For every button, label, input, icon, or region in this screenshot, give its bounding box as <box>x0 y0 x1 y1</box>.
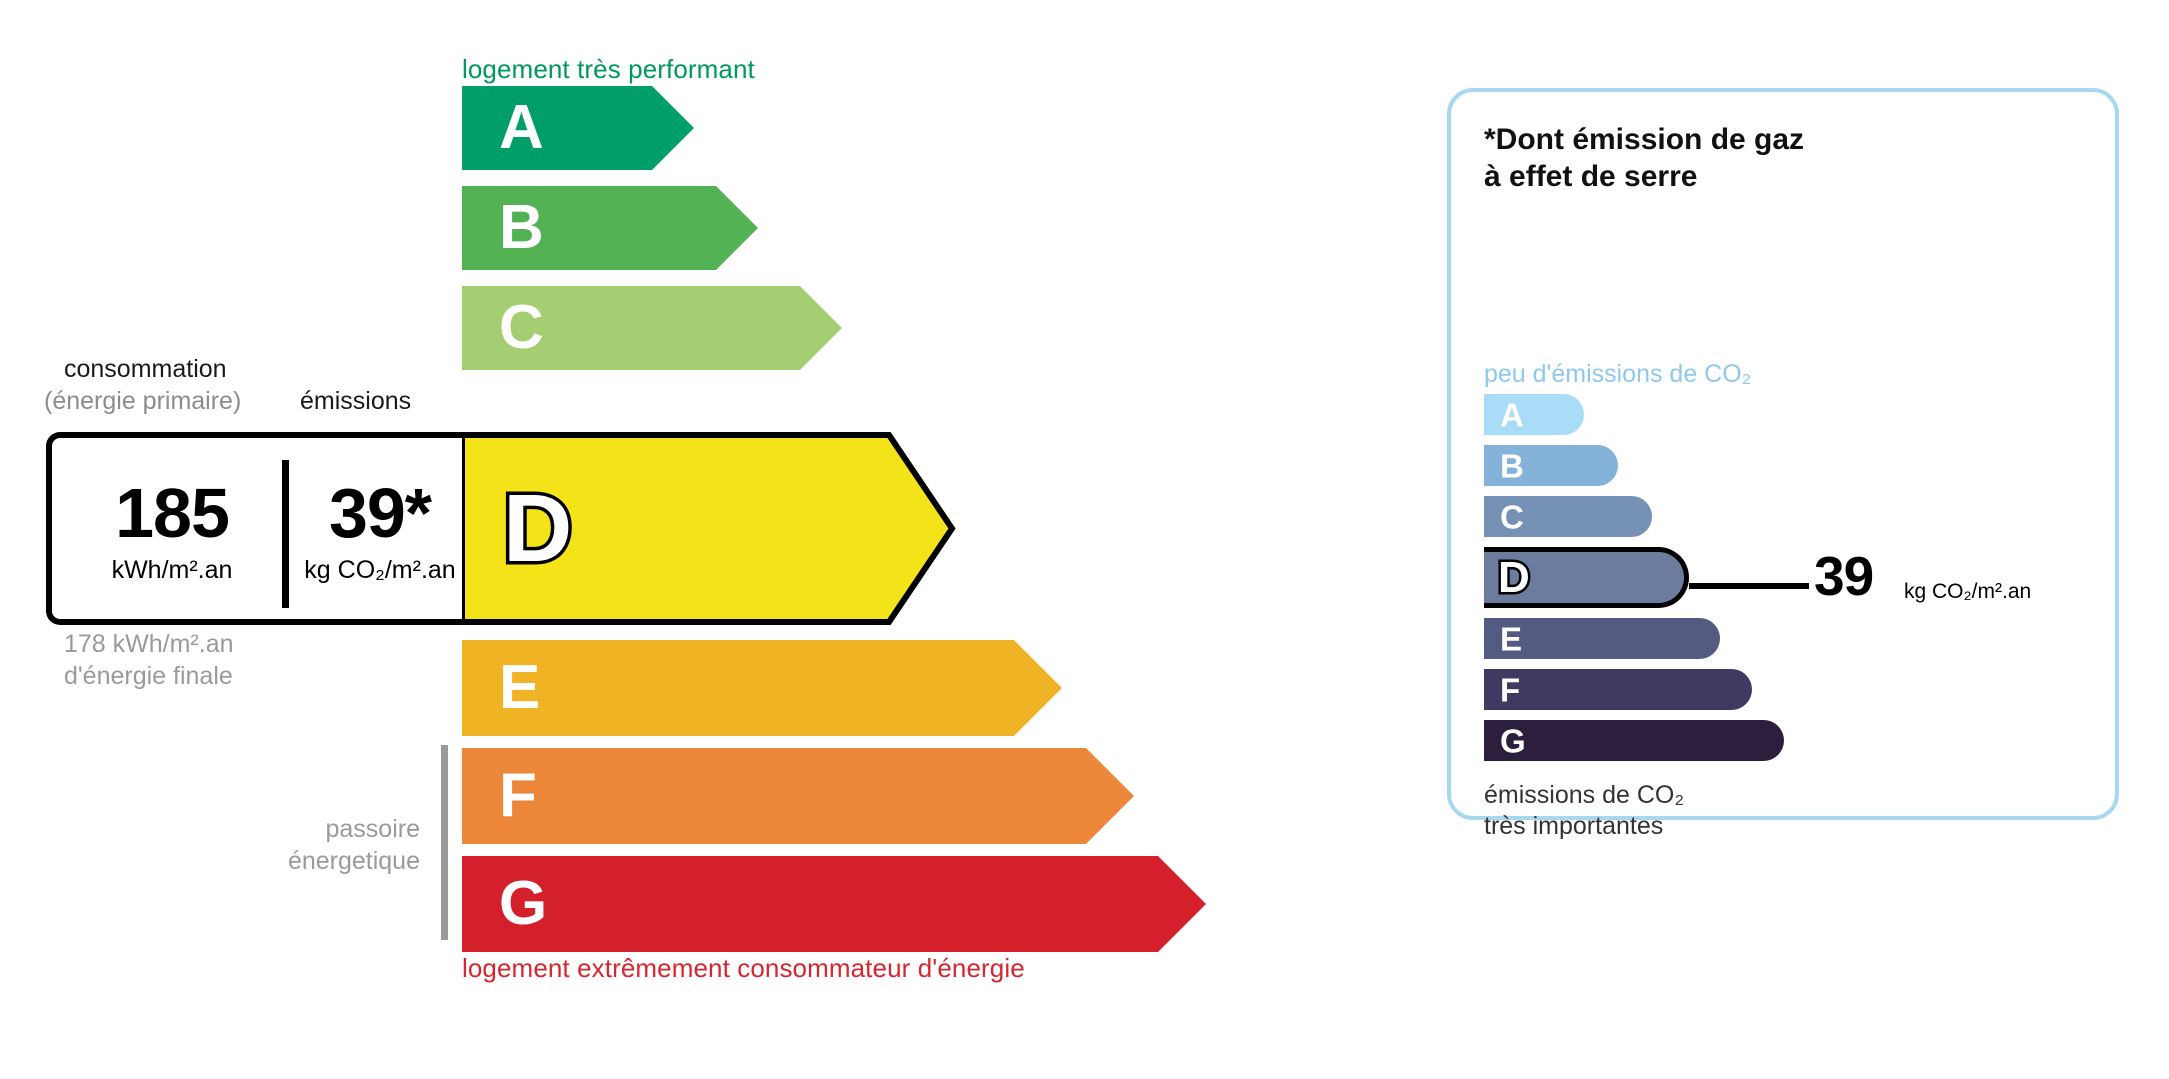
consumption-unit: kWh/m².an <box>68 558 276 583</box>
co2-letter-a: A <box>1500 398 1524 431</box>
band-letter-b: B <box>499 197 544 259</box>
co2-letter-b: B <box>1500 449 1524 482</box>
band-letter-d: D <box>503 481 572 577</box>
co2-title-line2: à effet de serre <box>1484 160 1697 193</box>
passoire-label-line2: énergetique <box>190 847 420 876</box>
final-energy-line2: d'énergie finale <box>64 662 233 691</box>
emission-value: 39* <box>296 478 464 548</box>
co2-letter-e: E <box>1500 622 1522 655</box>
passoire-marker <box>441 745 448 940</box>
band-letter-c: C <box>499 297 544 359</box>
emission-value-group: 39* kg CO₂/m².an <box>296 478 464 583</box>
energy-band-f[interactable]: F <box>462 748 1134 844</box>
co2-bottom-line2: très importantes <box>1484 812 1663 840</box>
co2-bar-d-selected[interactable]: D 39 kg CO₂/m².an <box>1484 547 1689 608</box>
band-letter-f: F <box>499 765 537 827</box>
energy-band-a[interactable]: A <box>462 86 694 170</box>
value-divider <box>282 460 289 608</box>
co2-panel-title: *Dont émission de gaz à effet de serre <box>1484 122 1804 195</box>
co2-letter-d: D <box>1498 556 1530 600</box>
label-emissions: émissions <box>300 387 411 416</box>
co2-callout-value: 39 <box>1814 549 1873 604</box>
final-energy-line1: 178 kWh/m².an <box>64 630 234 659</box>
co2-bar-c[interactable]: C <box>1484 496 1652 537</box>
co2-bar-b[interactable]: B <box>1484 445 1618 486</box>
co2-top-caption: peu d'émissions de CO₂ <box>1484 360 1751 389</box>
co2-bar-a[interactable]: A <box>1484 394 1584 435</box>
co2-bottom-caption: émissions de CO₂ très importantes <box>1484 780 1684 841</box>
dpe-diagram: logement très performant A B C E <box>0 0 2169 1079</box>
co2-callout-unit: kg CO₂/m².an <box>1904 580 2031 604</box>
energy-band-b[interactable]: B <box>462 186 758 270</box>
co2-callout-line <box>1689 583 1809 589</box>
energy-band-g[interactable]: G <box>462 856 1206 952</box>
co2-title-line1: *Dont émission de gaz <box>1484 123 1804 156</box>
energy-band-e[interactable]: E <box>462 640 1062 736</box>
co2-bar-f[interactable]: F <box>1484 669 1752 710</box>
co2-bottom-line1: émissions de CO₂ <box>1484 781 1684 809</box>
co2-bar-e[interactable]: E <box>1484 618 1720 659</box>
consumption-value: 185 <box>68 478 276 548</box>
value-box: 185 kWh/m².an 39* kg CO₂/m².an <box>46 432 465 625</box>
band-letter-a: A <box>499 97 544 159</box>
co2-bar-g[interactable]: G <box>1484 720 1784 761</box>
co2-panel: *Dont émission de gaz à effet de serre p… <box>1447 88 2119 820</box>
emission-unit: kg CO₂/m².an <box>296 558 464 583</box>
energy-ladder: logement très performant A B C E <box>0 0 1400 1079</box>
energy-band-c[interactable]: C <box>462 286 842 370</box>
label-consumption-sub: (énergie primaire) <box>44 387 241 416</box>
consumption-value-group: 185 kWh/m².an <box>68 478 276 583</box>
band-letter-g: G <box>499 873 547 935</box>
selected-band-row: 185 kWh/m².an 39* kg CO₂/m².an D <box>46 432 956 625</box>
ladder-bottom-caption: logement extrêmement consommateur d'éner… <box>462 953 1025 984</box>
energy-band-d[interactable]: D <box>462 432 958 625</box>
co2-letter-f: F <box>1500 673 1520 706</box>
band-letter-e: E <box>499 657 540 719</box>
co2-letter-g: G <box>1500 724 1526 757</box>
co2-letter-c: C <box>1500 500 1524 533</box>
passoire-label-line1: passoire <box>190 815 420 844</box>
co2-bars: A B C D 39 kg CO₂/m².an E F G <box>1484 394 1784 771</box>
label-consumption: consommation <box>64 355 227 384</box>
